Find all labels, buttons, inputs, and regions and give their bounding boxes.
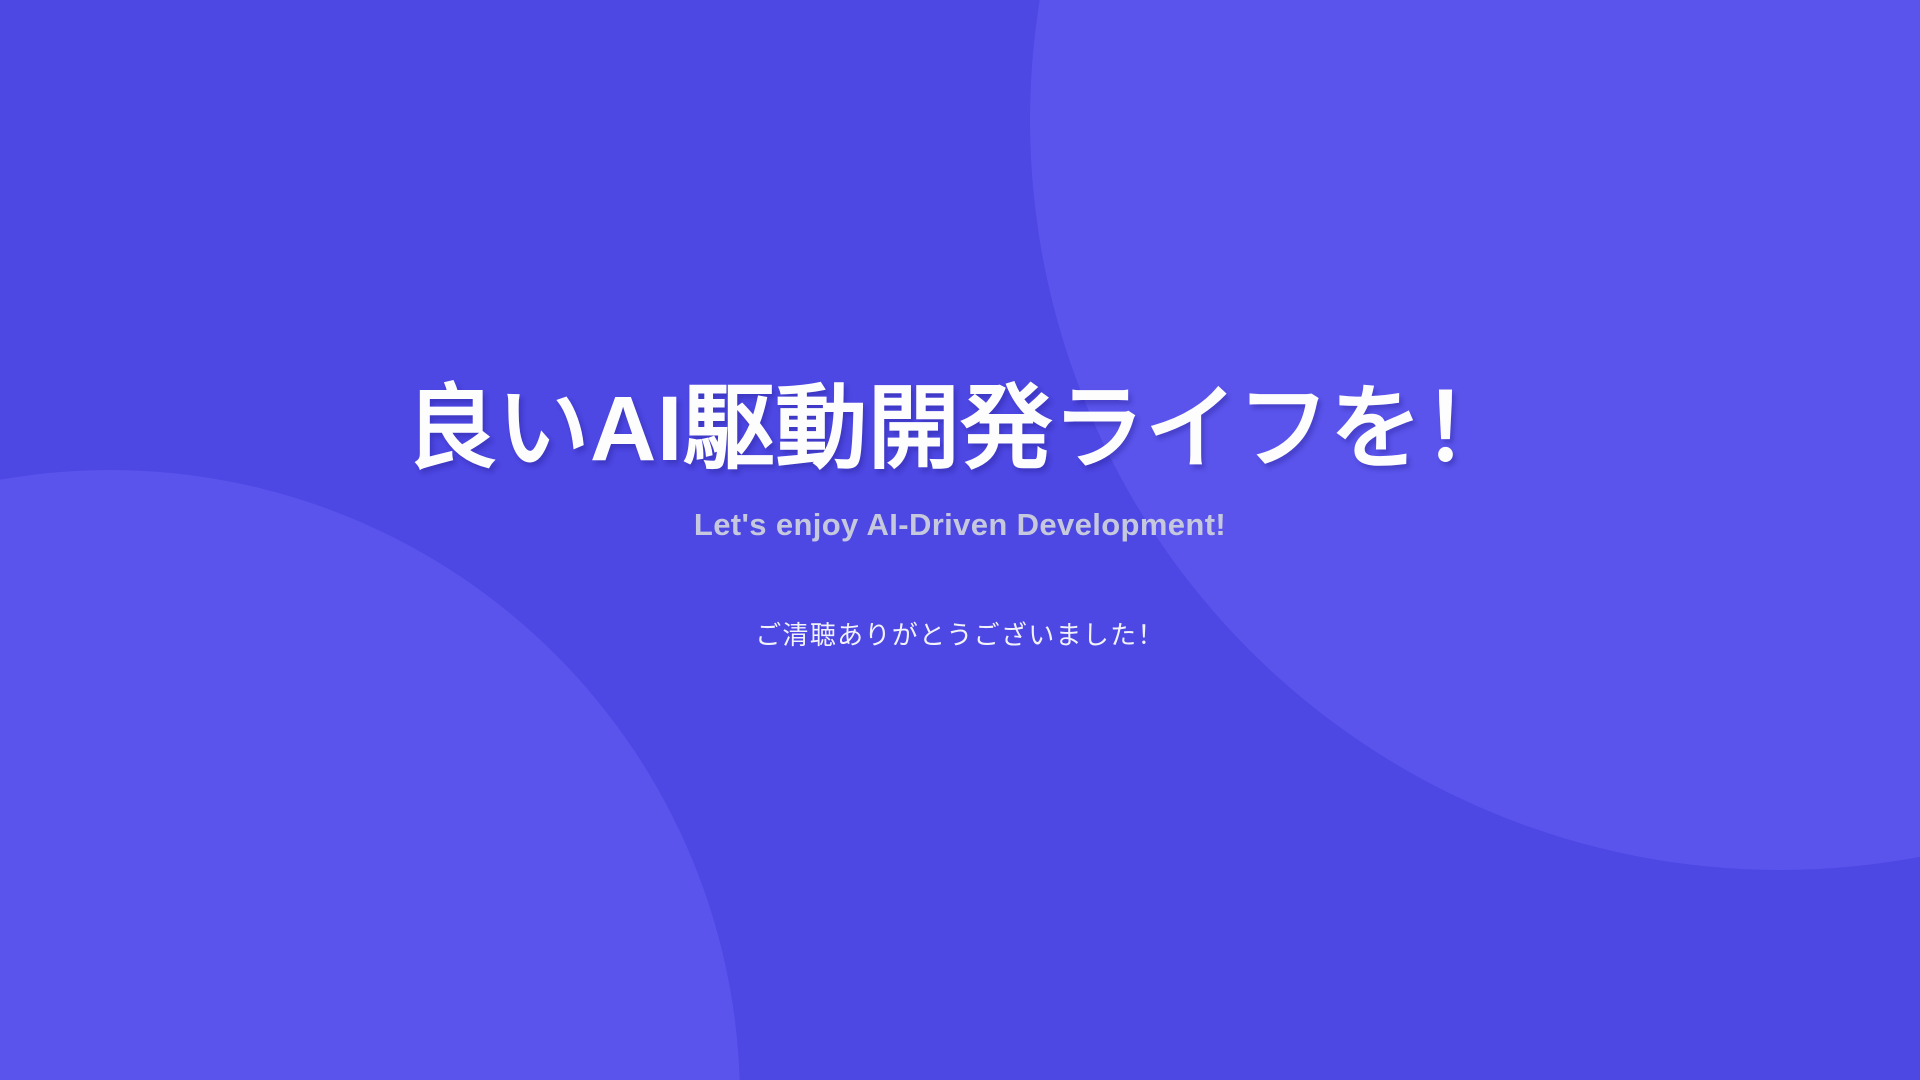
closing-slide: 良いAI駆動開発ライフを！ Let's enjoy AI-Driven Deve…	[0, 0, 1920, 1080]
slide-subtitle: Let's enjoy AI-Driven Development!	[694, 507, 1226, 543]
slide-footnote: ご清聴ありがとうございました！	[755, 615, 1165, 652]
slide-title: 良いAI駆動開発ライフを！	[405, 380, 1515, 479]
slide-content: 良いAI駆動開発ライフを！ Let's enjoy AI-Driven Deve…	[0, 0, 1920, 1080]
